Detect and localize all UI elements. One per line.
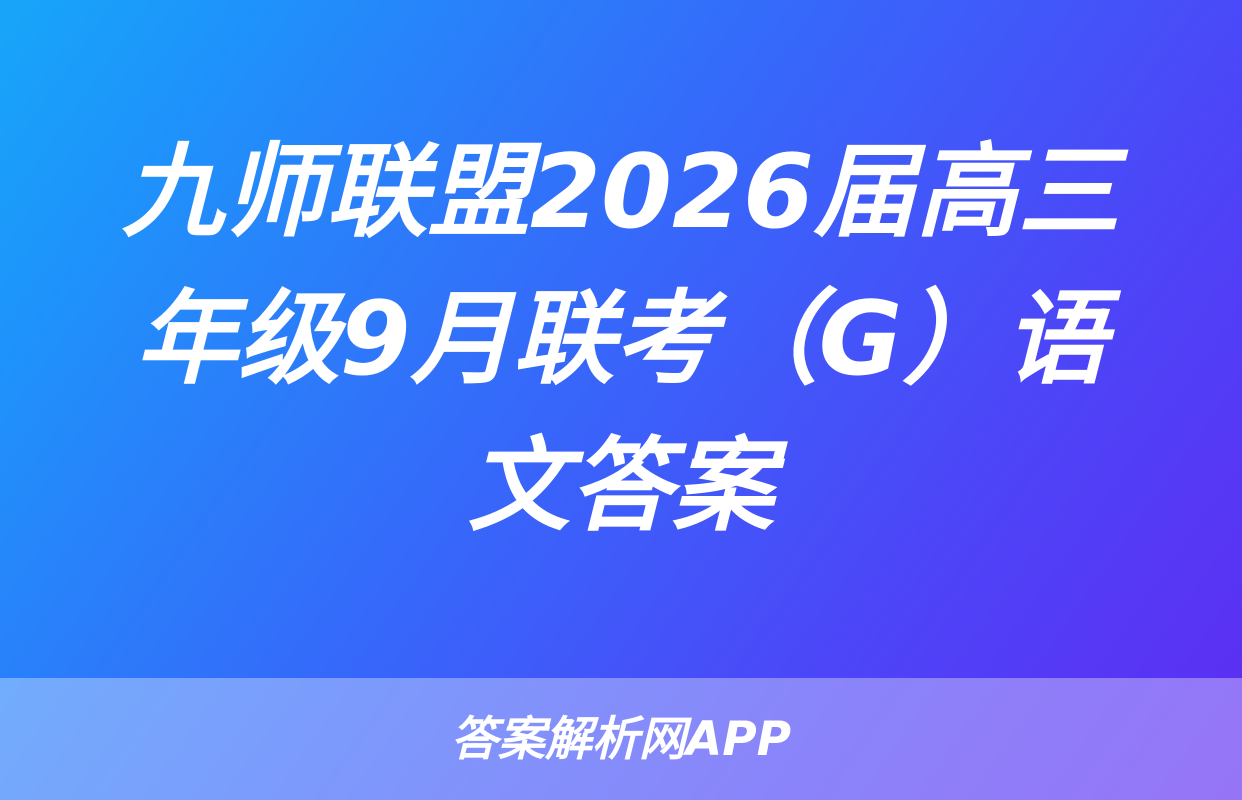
hero-section: 九师联盟2026届高三年级9月联考（G）语文答案 — [0, 0, 1242, 678]
watermark-brand-label: 答案解析网APP — [451, 716, 791, 763]
page-title: 九师联盟2026届高三年级9月联考（G）语文答案 — [106, 119, 1136, 560]
watermark-band: 答案解析网APP — [0, 678, 1242, 800]
answer-poster-card: 九师联盟2026届高三年级9月联考（G）语文答案 答案解析网APP — [0, 0, 1242, 800]
